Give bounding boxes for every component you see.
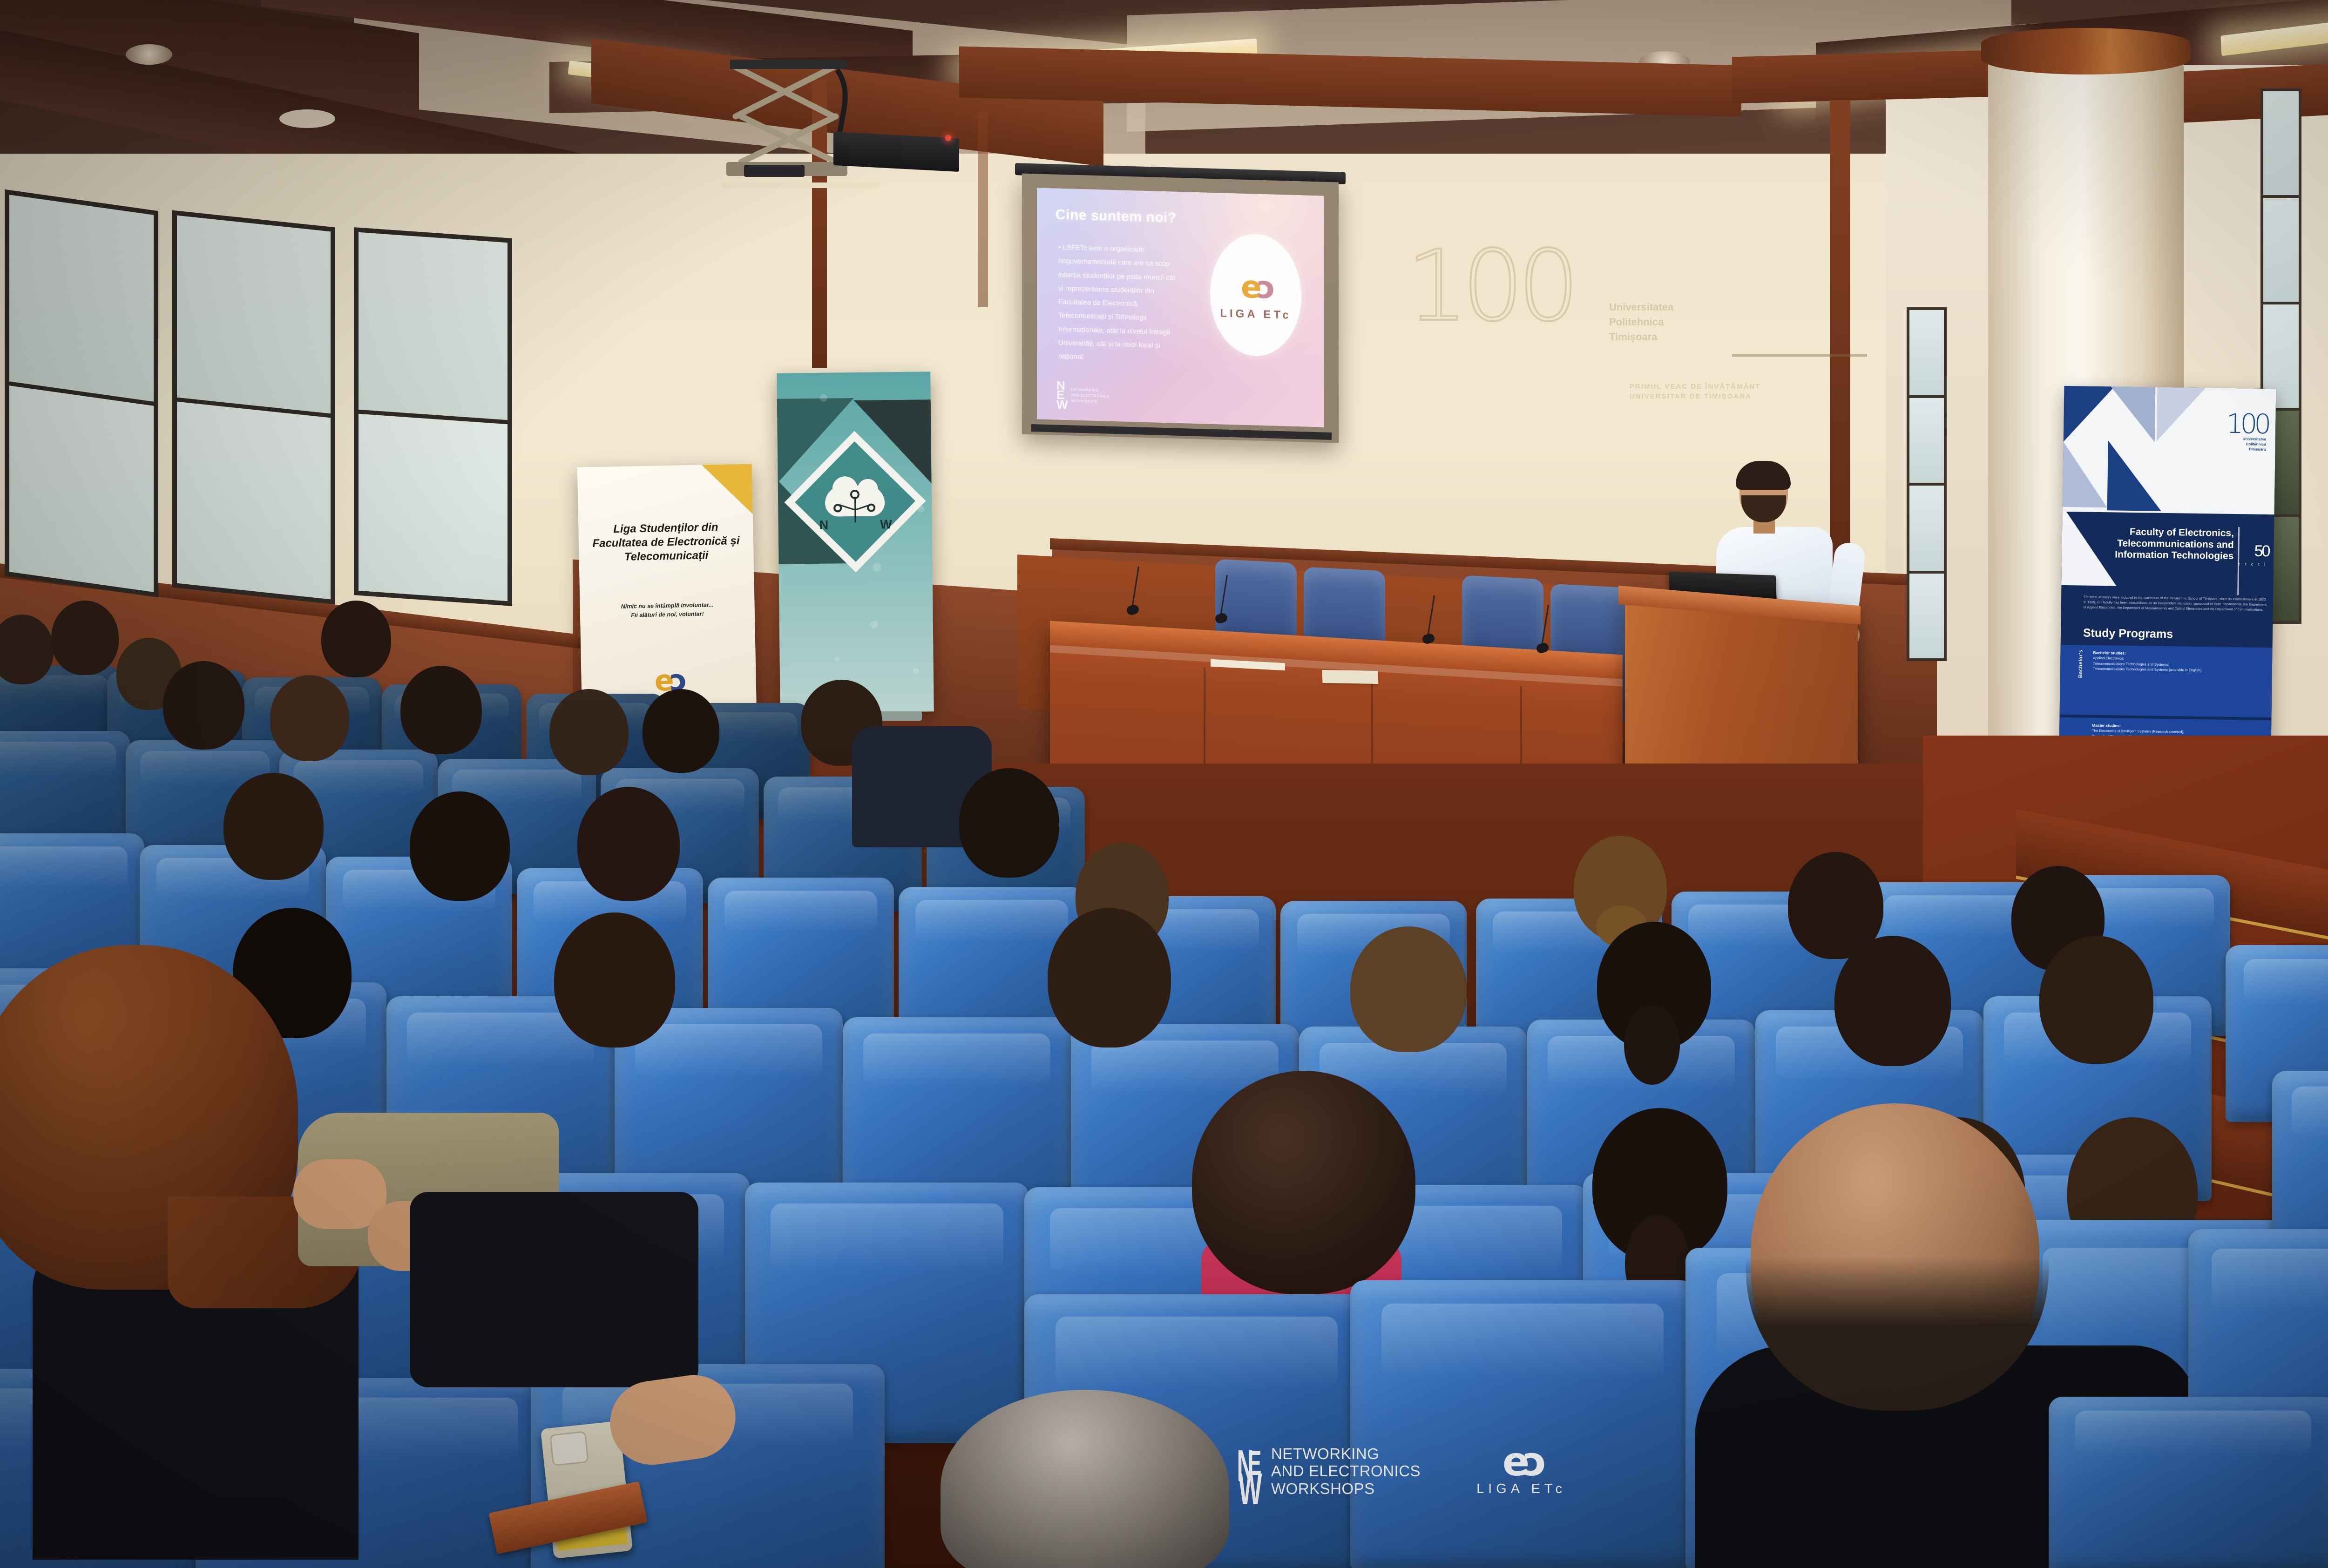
banner-upt-100-logo: 100 [2226, 408, 2268, 440]
upper-wall-band [1732, 50, 1993, 104]
liga-etc-wordmark: LIGA ETc [1220, 307, 1291, 322]
speaker-hair [1736, 461, 1791, 490]
monogram-w: W [1238, 1464, 1262, 1515]
attendee-head [1350, 926, 1467, 1052]
attendee-head [959, 768, 1059, 878]
banner-upt-50-mark: 50 [2254, 542, 2269, 561]
door-pane [359, 232, 508, 420]
door-pane [9, 385, 154, 592]
new-footer-text: NETWORKING AND ELECTRONICS WORKSHOPS [1071, 387, 1110, 405]
slide-footer-logo: NEW NETWORKING AND ELECTRONICS WORKSHOPS [1056, 380, 1110, 411]
watermark-line-1: NETWORKING [1271, 1446, 1421, 1462]
new-logo-watermark: N E W NETWORKING AND ELECTRONICS WORKSHO… [1229, 1442, 1421, 1500]
door-pane [9, 195, 154, 401]
relief-rule [1732, 354, 1867, 357]
attendee-head [549, 689, 629, 775]
slide-body-text: • LSFETc este o organizație neguvernamen… [1058, 241, 1177, 366]
liga-mark-a: e [1502, 1439, 1523, 1485]
attendee-head [51, 601, 119, 675]
banner-triangle [2157, 387, 2206, 442]
attendee-head [554, 912, 675, 1048]
aisle-seat [2049, 1397, 2328, 1568]
attendee-head [410, 791, 510, 901]
banner-letter-n: N [819, 518, 828, 533]
rollup-banner-new-workshops: N W new@lsfetc.ro f fb/newlsfetc [777, 372, 934, 713]
attendee-head [270, 675, 349, 761]
new-monogram-icon: NEW [1056, 380, 1068, 410]
window-pane [1909, 486, 1944, 571]
attendee-head [2039, 936, 2153, 1064]
glass-door-left-2[interactable] [172, 210, 335, 605]
attendee-head [400, 666, 482, 754]
attendee-ponytail [1624, 1006, 1680, 1085]
banner-upt-faculty-title: Faculty of Electronics, Telecommunicatio… [2082, 526, 2234, 562]
banner-corner-accent [702, 464, 753, 515]
neighbour-attendee-dark-trousers [410, 1192, 698, 1387]
banner-triangle [2107, 440, 2162, 511]
wall-pilaster [978, 112, 988, 307]
column-capital [1981, 28, 2191, 74]
banner-triangle [2063, 442, 2108, 507]
banner-upt-level-bachelor: Bachelor studies: Applied Electronics; T… [2093, 650, 2263, 674]
watermark-line-3: WORKSHOPS [1271, 1481, 1421, 1497]
attendee-curly-head [1192, 1071, 1415, 1294]
door-pane [177, 401, 331, 599]
attendee-head [643, 689, 719, 773]
liga-mark-b: ɔ [1523, 1439, 1540, 1485]
attendee-head [1834, 936, 1951, 1066]
ceiling-spot-2 [126, 44, 172, 65]
bachelor-heading: Bachelor studies: [2093, 650, 2125, 656]
liga-etc-logo-watermark: eɔ LIGA ETc [1476, 1446, 1566, 1497]
liga-etc-mark: eɔ [1241, 269, 1271, 305]
projection-screen: Cine suntem noi? • LSFETc este o organiz… [1022, 174, 1339, 443]
attendee-head [577, 787, 680, 901]
new-footer-line3: WORKSHOPS [1071, 398, 1110, 405]
window-pane [1909, 310, 1944, 395]
master-heading: Master studies: [2092, 723, 2121, 728]
banner-letter-w: W [880, 517, 892, 532]
window-pane [2263, 91, 2299, 195]
auditorium-photo: Cine suntem noi? • LSFETc este o organiz… [0, 0, 2328, 1568]
attendee-head [1048, 908, 1171, 1048]
banner-upt-level-bachelor-label: Bachelor's [2078, 649, 2084, 678]
window-pane [1909, 574, 1944, 659]
attendee-head [163, 661, 244, 750]
projector-status-led [945, 135, 951, 141]
glass-door-left-1[interactable] [5, 189, 158, 597]
liga-mark-a: e [1241, 269, 1257, 305]
liga-etc-wordmark: LIGA ETc [1476, 1481, 1566, 1497]
attendee-head [223, 773, 324, 880]
liga-mark-b: ɔ [1257, 269, 1271, 305]
door-pane [177, 216, 331, 413]
liga-etc-mark: eɔ [1502, 1446, 1540, 1479]
slide-title: Cine suntem noi? [1056, 207, 1177, 226]
photo-watermark: N E W NETWORKING AND ELECTRONICS WORKSHO… [1229, 1415, 1620, 1527]
banner-liga-title: Liga Studenților din Facultatea de Elect… [587, 520, 745, 565]
banner-upt-etcti-abbr: e t c t i [2238, 561, 2267, 567]
phone-camera-module-icon [549, 1431, 589, 1467]
new-logo-lines: NETWORKING AND ELECTRONICS WORKSHOPS [1271, 1446, 1421, 1497]
banner-triangle [2064, 386, 2115, 442]
glass-door-left-3[interactable] [354, 227, 512, 606]
banner-liga-tagline: Nimic nu se întâmplă involuntar... Fii a… [588, 600, 746, 621]
speaker-beard [1741, 495, 1786, 522]
new-monogram-icon: N E W [1229, 1442, 1265, 1500]
door-pane [359, 413, 508, 601]
banner-upt-study-programs-heading: Study Programs [2083, 627, 2173, 642]
projector-body [833, 132, 959, 172]
smoke-detector-icon [279, 109, 335, 128]
banner-upt-intro: Electrical sciences were included in the… [2084, 595, 2267, 613]
presidium-paper-sheet [1322, 670, 1379, 684]
window-pane [1909, 398, 1944, 483]
banner-triangle [2110, 386, 2156, 442]
rollup-banner-liga-etc: Liga Studenților din Facultatea de Elect… [577, 464, 757, 718]
banner-upt-institution: Universitatea Politehnica Timișoara [2242, 437, 2266, 452]
banner-upt-header: 100 Universitatea Politehnica Timișoara [2063, 386, 2276, 514]
window-strip-left-of-column [1907, 307, 1947, 661]
attendee-head [321, 601, 391, 677]
window-pane [2263, 198, 2299, 302]
watermark-line-2: AND ELECTRONICS [1271, 1463, 1421, 1479]
slide-surface: Cine suntem noi? • LSFETc este o organiz… [1037, 188, 1324, 427]
